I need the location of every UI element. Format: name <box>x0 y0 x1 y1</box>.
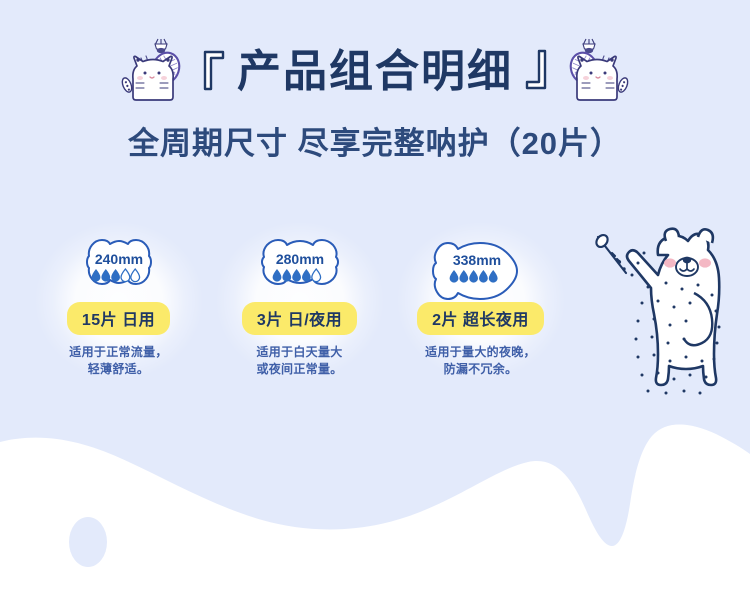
bracket-open-icon <box>201 47 227 93</box>
header: 产品组合明细 <box>0 0 750 175</box>
desc-line-1: 适用于白天量大 <box>256 344 342 361</box>
desc-line-2: 防漏不冗余。 <box>425 361 536 378</box>
bracket-close-icon <box>523 47 549 93</box>
desc-line-2: 或夜间正常量。 <box>256 361 342 378</box>
cat-mascot-right-icon <box>553 33 639 111</box>
status-badge: 2片 超长夜用 <box>417 302 544 335</box>
status-badge: 15片 日用 <box>67 302 170 335</box>
product-infographic: 产品组合明细 <box>0 0 750 600</box>
day-night-pad-icon: 280mm <box>237 237 363 297</box>
page-title: 产品组合明细 <box>231 50 519 94</box>
pad-illustration-wrap: 280mm <box>237 236 363 298</box>
pad-size-label: 280mm <box>275 251 323 267</box>
desc-line-1: 适用于正常流量， <box>69 344 167 361</box>
title-row: 产品组合明细 <box>0 36 750 108</box>
desc-line-2: 轻薄舒适。 <box>69 361 167 378</box>
pad-illustration-wrap: 338mm <box>411 236 551 298</box>
card-description: 适用于量大的夜晚， 防漏不冗余。 <box>425 344 536 378</box>
desc-line-1: 适用于量大的夜晚， <box>425 344 536 361</box>
product-card-list: 240mm 15片 日用 <box>28 218 573 398</box>
product-card[interactable]: 280mm 3片 日/夜用 <box>209 218 390 398</box>
polar-bear-mascot-icon <box>586 215 746 430</box>
card-description: 适用于正常流量， 轻薄舒适。 <box>69 344 167 378</box>
day-pad-icon: 240mm <box>65 237 173 297</box>
page-subtitle: 全周期尺寸 尽享完整呐护（20片） <box>0 118 750 163</box>
snow-drift-wave <box>0 400 750 600</box>
card-description: 适用于白天量大 或夜间正常量。 <box>256 344 342 378</box>
product-card[interactable]: 240mm 15片 日用 <box>28 218 209 398</box>
pad-size-label: 338mm <box>452 252 500 268</box>
product-card[interactable]: 338mm 2片 超长夜用 适用于量大的夜晚， 防漏不冗余。 <box>390 218 571 398</box>
cat-mascot-left-icon <box>111 33 197 111</box>
pad-illustration-wrap: 240mm <box>65 236 173 298</box>
pad-size-label: 240mm <box>94 251 142 267</box>
status-badge: 3片 日/夜用 <box>242 302 357 335</box>
night-pad-icon: 338mm <box>411 236 551 298</box>
